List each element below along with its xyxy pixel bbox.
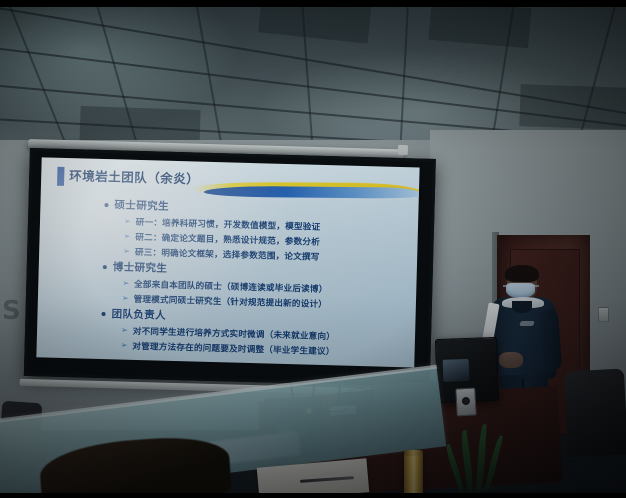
potted-plant xyxy=(452,420,508,498)
photo-scene: S 环境岩土团队（余炎） 硕士研究生➢研一：培养科研习惯，开发数值模型，模型验证… xyxy=(0,0,626,498)
right-arm xyxy=(539,308,562,371)
light-switch[interactable] xyxy=(598,307,609,322)
gold-thermos[interactable] xyxy=(404,452,423,498)
screen-roller-end-cap xyxy=(398,145,408,155)
arrow-bullet-icon: ➢ xyxy=(124,233,131,241)
slide-section-heading-text: 团队负责人 xyxy=(111,306,166,322)
arrow-bullet-icon: ➢ xyxy=(122,295,129,303)
arrow-bullet-icon: ➢ xyxy=(121,327,128,335)
slide-title: 环境岩土团队（余炎） xyxy=(69,165,199,188)
ceiling-tile xyxy=(428,0,531,48)
arrow-bullet-icon: ➢ xyxy=(122,280,129,288)
arrow-bullet-icon: ➢ xyxy=(124,218,131,226)
webcam[interactable] xyxy=(455,387,476,416)
title-accent-bar xyxy=(57,167,65,186)
bullet-dot-icon xyxy=(104,203,108,207)
plant-leaf xyxy=(484,435,503,493)
projection-screen: 环境岩土团队（余炎） 硕士研究生➢研一：培养科研习惯，开发数值模型，模型验证➢研… xyxy=(24,148,436,387)
slide-section-heading-text: 博士研究生 xyxy=(113,259,168,275)
office-chair-right[interactable] xyxy=(564,368,626,457)
swoosh-blue-graphic xyxy=(204,186,420,199)
monitor-screen-glow xyxy=(443,359,470,382)
hair xyxy=(505,265,539,282)
slide-body: 硕士研究生➢研一：培养科研习惯，开发数值模型，模型验证➢研二：确定论文题目，熟悉… xyxy=(37,195,419,361)
bullet-dot-icon xyxy=(101,311,105,315)
bullet-dot-icon xyxy=(103,265,107,269)
thermos-cap xyxy=(404,450,423,456)
arrow-bullet-icon: ➢ xyxy=(123,248,130,256)
arrow-bullet-icon: ➢ xyxy=(121,342,128,350)
face-mask xyxy=(506,283,535,298)
slide-section-heading-text: 硕士研究生 xyxy=(114,197,169,213)
ceiling-tile xyxy=(258,0,372,44)
presentation-slide: 环境岩土团队（余炎） 硕士研究生➢研一：培养科研习惯，开发数值模型，模型验证➢研… xyxy=(36,157,419,367)
hands xyxy=(499,352,523,368)
jacket-logo xyxy=(519,321,535,326)
jacket-collar-v xyxy=(512,301,532,313)
ceiling-tile xyxy=(519,84,626,130)
wall-faint-text: S xyxy=(2,300,22,324)
